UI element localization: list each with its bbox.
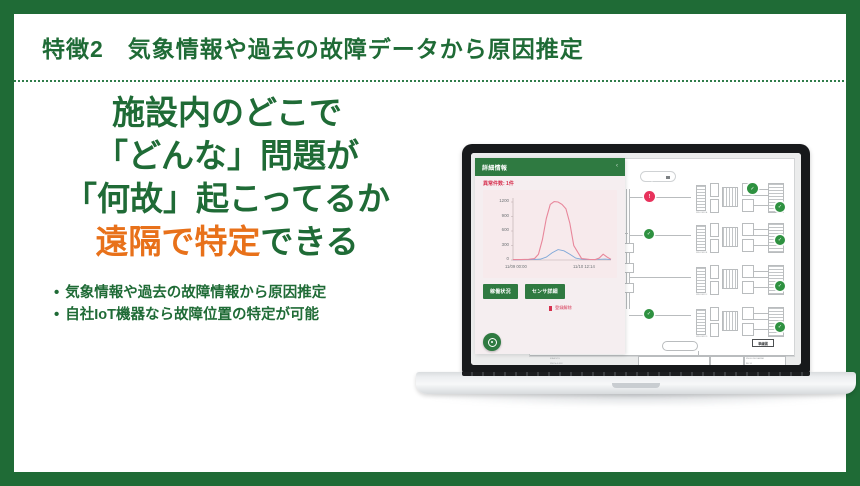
headline-line-3: 「何故」起こってるか — [20, 178, 434, 221]
alarm-count-label: 異常件数: 1件 — [483, 180, 514, 187]
equipment-cluster: FDR-04 MCC-D — [692, 305, 788, 339]
unregister-legend: 登録解除 — [549, 305, 572, 311]
titleblock-box — [638, 356, 710, 365]
status-marker-ok[interactable]: ✓ — [644, 229, 654, 239]
legend-swatch-icon — [549, 306, 552, 311]
chevron-left-icon[interactable]: ‹ — [616, 163, 618, 169]
status-marker-ok[interactable]: ✓ — [747, 183, 758, 194]
status-marker-ok[interactable]: ✓ — [775, 281, 785, 291]
sensor-trend-chart[interactable]: 1200 900 600 300 0 11/09 00:00 11/10 12:… — [483, 190, 617, 278]
titleblock-box — [710, 356, 744, 365]
x-tick-start: 11/09 00:00 — [505, 264, 527, 269]
app-canvas: PNL-A INCOMING 6.6kV MAIN BUS TR-1 — [471, 153, 801, 365]
bullet-text: 自社IoT機器なら故障位置の特定が可能 — [65, 304, 319, 326]
titleblock-tag: 単線図 — [752, 339, 774, 347]
operation-status-button[interactable]: 稼働状況 — [483, 284, 518, 299]
gear-icon[interactable] — [483, 333, 501, 351]
headline-line-4: 遠隔で特定できる — [20, 221, 434, 264]
callout-chip-icon — [666, 176, 670, 179]
status-marker-ok[interactable]: ✓ — [775, 322, 785, 332]
diagram-feeder — [629, 277, 691, 278]
bullet-text: 気象情報や過去の故障情報から原因推定 — [65, 282, 326, 304]
status-marker-alarm[interactable]: ! — [644, 191, 655, 202]
header-divider — [14, 80, 846, 82]
laptop-lid: PNL-A INCOMING 6.6kV MAIN BUS TR-1 — [462, 144, 810, 374]
slide-content: 特徴2 気象情報や過去の故障データから原因推定 施設内のどこで 「どんな」問題が… — [14, 14, 846, 472]
headline-accent: 遠隔で特定 — [95, 223, 260, 260]
laptop-trackpad-notch — [612, 383, 660, 388]
laptop-screen: PNL-A INCOMING 6.6kV MAIN BUS TR-1 — [471, 153, 801, 365]
diagram-feeder — [629, 197, 691, 198]
list-item: • 気象情報や過去の故障情報から原因推定 — [54, 282, 434, 304]
status-marker-ok[interactable]: ✓ — [775, 202, 785, 212]
bullet-dot-icon: • — [54, 282, 59, 304]
status-marker-ok[interactable]: ✓ — [775, 235, 785, 245]
equipment-cluster: FDR-01 MCC-A — [692, 181, 788, 215]
x-tick-end: 11/10 12:14 — [573, 264, 595, 269]
gear-glyph — [488, 338, 497, 347]
headline-tail: できる — [260, 223, 358, 260]
legend-label: 登録解除 — [555, 305, 572, 311]
diagram-feeder — [629, 235, 691, 236]
equipment-cluster: FDR-02 MCC-B — [692, 221, 788, 255]
headline-line-1: 施設内のどこで — [20, 92, 434, 135]
laptop-mockup: PNL-A INCOMING 6.6kV MAIN BUS TR-1 — [416, 144, 856, 434]
headline: 施設内のどこで 「どんな」問題が 「何故」起こってるか 遠隔で特定できる — [14, 92, 434, 264]
panel-button-group: 稼働状況 センサ詳細 — [483, 284, 565, 299]
y-tick-300: 300 — [485, 242, 509, 247]
page-title: 特徴2 気象情報や過去の故障データから原因推定 — [42, 30, 584, 64]
chart-svg — [483, 190, 617, 278]
slide-header: 特徴2 気象情報や過去の故障データから原因推定 — [14, 14, 846, 80]
y-tick-600: 600 — [485, 227, 509, 232]
alarm-callout-tooltip[interactable] — [640, 171, 676, 182]
detail-info-panel: 詳細情報 ‹ 異常件数: 1件 — [475, 158, 625, 354]
diagram-feeder — [629, 315, 691, 316]
bullet-dot-icon: • — [54, 304, 59, 326]
status-marker-ok[interactable]: ✓ — [644, 309, 654, 319]
list-item: • 自社IoT機器なら故障位置の特定が可能 — [54, 304, 434, 326]
detail-panel-title: 詳細情報 — [482, 163, 507, 172]
y-tick-900: 900 — [485, 213, 509, 218]
left-column: 施設内のどこで 「どんな」問題が 「何故」起こってるか 遠隔で特定できる • 気… — [14, 92, 434, 327]
laptop-keyboard-edge — [462, 372, 810, 376]
y-tick-1200: 1200 — [485, 198, 509, 203]
headline-line-2: 「どんな」問題が — [20, 135, 434, 178]
detail-panel-header: 詳細情報 ‹ — [475, 158, 625, 176]
sensor-detail-button[interactable]: センサ詳細 — [525, 284, 565, 299]
callout-tail — [649, 181, 655, 186]
bullet-list: • 気象情報や過去の故障情報から原因推定 • 自社IoT機器なら故障位置の特定が… — [14, 282, 434, 327]
slide-frame: 特徴2 気象情報や過去の故障データから原因推定 施設内のどこで 「どんな」問題が… — [0, 0, 860, 486]
y-tick-0: 0 — [485, 256, 509, 261]
diagram-note-box — [662, 341, 698, 351]
equipment-cluster: FDR-03 MCC-C — [692, 263, 788, 297]
